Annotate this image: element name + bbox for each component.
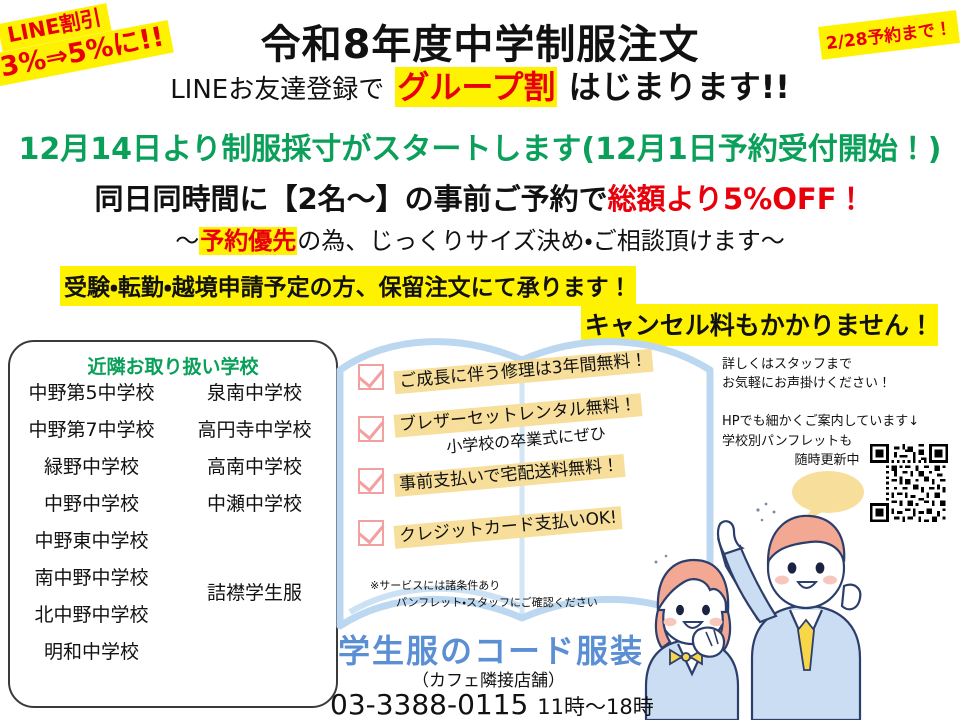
school-item: 南中野中学校 xyxy=(34,569,148,588)
staff-info-line2: お気軽にお声掛けください！ xyxy=(722,375,922,394)
staff-contact-info: 詳しくはスタッフまで お気軽にお声掛けください！ xyxy=(722,356,922,394)
checklist-row: クレジットカード支払いOK! xyxy=(358,512,718,558)
homepage-info-line1: HPでも細かくご案内しています↓ xyxy=(722,412,932,432)
priority-reservation-notice: 〜予約優先の為、じっくりサイズ決め・ご相談頂けます〜 xyxy=(0,221,960,256)
checklist-label: 事前支払いで宅配送料無料！ xyxy=(393,454,625,497)
school-item: 中野中学校 xyxy=(44,495,139,514)
check-tick-icon xyxy=(357,517,384,545)
checklist-text: ご成長に伴う修理は3年間無料！ xyxy=(394,360,653,383)
checklist-disclaimer-line1: ※サービスには諸条件あり xyxy=(370,579,500,592)
no-cancel-fee-notice: キャンセル料もかかりません！ xyxy=(581,304,938,346)
poster-root: LINE割引 3%⇒5%に!! 2/28予約まで！ 令和8年度中学制服注文 LI… xyxy=(0,0,960,720)
staff-info-line1: 詳しくはスタッフまで xyxy=(722,356,922,375)
checklist-row: ご成長に伴う修理は3年間無料！ xyxy=(358,356,718,402)
group-discount-notice: 同日同時間に【2名〜】の事前ご予約で総額より5%OFF！ xyxy=(0,176,960,218)
school-item: 中瀬中学校 xyxy=(207,495,302,514)
checklist-disclaimer-line2: パンフレット・スタッフにご確認ください xyxy=(396,595,598,612)
school-column-left: 中野第5中学校 中野第7中学校 緑野中学校 中野中学校 中野東中学校 南中野中学… xyxy=(10,384,173,700)
priority-prefix: 〜 xyxy=(175,227,199,255)
benefits-checklist: ご成長に伴う修理は3年間無料！ ブレザーセットレンタル無料！ 小学校の卒業式にぜ… xyxy=(358,356,718,564)
shop-telephone[interactable]: 03-3388-0115 11時〜18時 xyxy=(330,688,654,720)
checklist-label: ご成長に伴う修理は3年間無料！ xyxy=(393,349,653,395)
priority-suffix: の為、じっくりサイズ決め・ご相談頂けます〜 xyxy=(297,227,784,255)
school-item: 泉南中学校 xyxy=(207,384,302,403)
check-tick-icon xyxy=(357,465,384,493)
check-tick-icon xyxy=(357,413,384,441)
subtitle-suffix: はじまります!! xyxy=(569,68,790,106)
measurement-start-notice: 12月14日より制服採寸がスタートします(12月1日予約受付開始！) xyxy=(0,124,960,168)
check-tick-icon xyxy=(357,361,384,389)
checklist-text: クレジットカード支払いOK! xyxy=(394,516,622,539)
qr-code-icon[interactable] xyxy=(870,444,948,522)
school-item: 明和中学校 xyxy=(44,643,139,662)
school-item: 緑野中学校 xyxy=(44,458,139,477)
checkbox-icon[interactable] xyxy=(358,416,384,442)
checklist-row: ブレザーセットレンタル無料！ 小学校の卒業式にぜひ xyxy=(358,408,718,454)
priority-highlight: 予約優先 xyxy=(199,227,297,255)
business-hours: 11時〜18時 xyxy=(537,695,653,719)
telephone-number: 03-3388-0115 xyxy=(330,688,528,720)
checklist-row: 事前支払いで宅配送料無料！ xyxy=(358,460,718,506)
group-discount-prefix: 同日同時間に【2名〜】の事前ご予約で xyxy=(94,182,607,216)
school-column-right: 泉南中学校 高円寺中学校 高南中学校 中瀬中学校 詰襟学生服 xyxy=(173,384,336,700)
subtitle-prefix: LINEお友達登録で xyxy=(170,75,384,105)
school-columns: 中野第5中学校 中野第7中学校 緑野中学校 中野中学校 中野東中学校 南中野中学… xyxy=(10,384,336,700)
checkbox-icon[interactable] xyxy=(358,364,384,390)
subtitle-highlight: グループ割 xyxy=(395,67,557,107)
nearby-schools-box: 近隣お取り扱い学校 中野第5中学校 中野第7中学校 緑野中学校 中野中学校 中野… xyxy=(8,340,338,708)
checklist-label: クレジットカード支払いOK! xyxy=(393,506,623,549)
school-item: 北中野中学校 xyxy=(34,606,148,625)
nearby-schools-title: 近隣お取り扱い学校 xyxy=(10,352,336,379)
school-item: 高南中学校 xyxy=(207,458,302,477)
hold-order-notice: 受験・転勤・越境申請予定の方、保留注文にて承ります！ xyxy=(60,266,636,306)
group-discount-amount: 総額より5%OFF！ xyxy=(608,182,866,216)
subtitle: LINEお友達登録で グループ割 はじまります!! xyxy=(0,62,960,108)
school-item: 中野東中学校 xyxy=(34,532,148,551)
checkbox-icon[interactable] xyxy=(358,520,384,546)
school-item: 高円寺中学校 xyxy=(197,421,311,440)
checklist-disclaimer: ※サービスには諸条件あり パンフレット・スタッフにご確認ください xyxy=(370,578,598,611)
school-item: 中野第7中学校 xyxy=(28,421,154,440)
checkbox-icon[interactable] xyxy=(358,468,384,494)
school-item-gakuran: 詰襟学生服 xyxy=(207,584,302,603)
checklist-text: ブレザーセットレンタル無料！ 小学校の卒業式にぜひ xyxy=(394,404,642,449)
checklist-text: 事前支払いで宅配送料無料！ xyxy=(394,464,625,487)
school-item: 中野第5中学校 xyxy=(28,384,154,403)
